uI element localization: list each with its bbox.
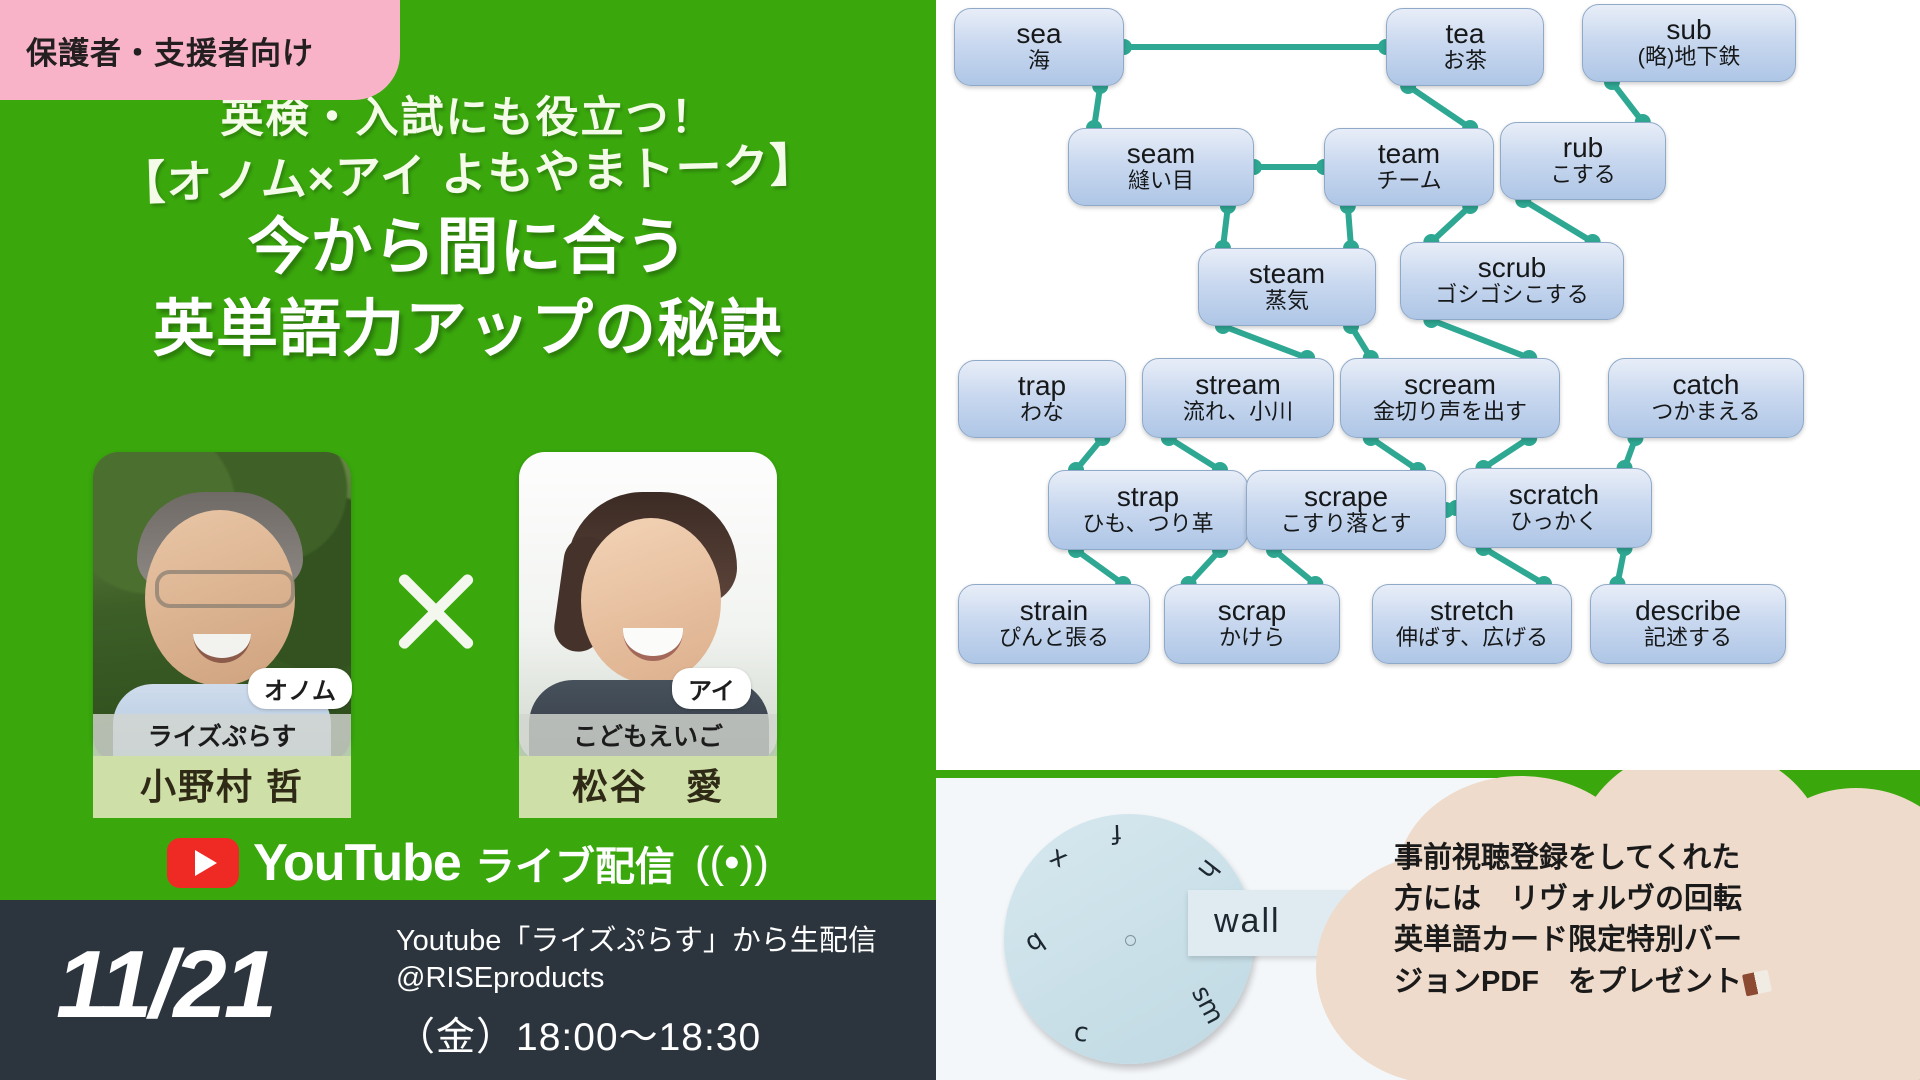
- word-node-japanese: つかまえる: [1651, 400, 1760, 425]
- word-node-japanese: ぴんと張る: [999, 626, 1109, 651]
- word-node-japanese: かけら: [1219, 626, 1285, 651]
- word-node-steam: steam蒸気: [1198, 248, 1376, 326]
- speaker-nameplate-onomu: ライズぷらす 小野村 哲: [93, 714, 351, 818]
- promo-line-4: ジョンPDF をプレゼント: [1394, 966, 1742, 998]
- speaker-name: 松谷 愛: [519, 756, 777, 818]
- headline-main-line1: 今から間に合う: [0, 210, 936, 286]
- word-node-scrape: scrapeこすり落とす: [1246, 470, 1446, 550]
- wheel-letter: sm: [1185, 981, 1230, 1029]
- word-node-japanese: 記述する: [1644, 626, 1732, 651]
- youtube-wordmark: YouTube: [253, 833, 461, 893]
- word-node-english: seam: [1127, 140, 1195, 169]
- word-node-english: sub: [1666, 16, 1711, 45]
- word-node-japanese: 海: [1028, 49, 1050, 74]
- word-node-english: describe: [1635, 597, 1741, 626]
- word-node-catch: catchつかまえる: [1608, 358, 1804, 438]
- word-node-japanese: 蒸気: [1265, 289, 1309, 314]
- word-node-english: strap: [1117, 483, 1179, 512]
- book-icon: [1742, 969, 1772, 996]
- event-date: 11/21: [56, 930, 274, 1040]
- word-map-canvas: sea海teaお茶sub(略)地下鉄seam縫い目teamチームrubこするst…: [936, 0, 1920, 770]
- word-map-panel: sea海teaお茶sub(略)地下鉄seam縫い目teamチームrubこするst…: [936, 0, 1920, 770]
- word-node-scrub: scrubゴシゴシこする: [1400, 242, 1624, 320]
- word-node-stream: stream流れ、小川: [1142, 358, 1334, 438]
- word-node-japanese: わな: [1020, 401, 1064, 426]
- event-details: Youtube「ライズぷらす」から生配信 @RISEproducts （金）18…: [396, 924, 877, 1062]
- word-strip-label: wall: [1214, 902, 1281, 941]
- word-node-english: scrub: [1478, 254, 1546, 283]
- word-node-english: scream: [1404, 371, 1496, 400]
- left-panel: 保護者・支援者向け 英検・入試にも役立つ！ 【オノム×アイ よもやまトーク】 今…: [0, 0, 936, 1080]
- wheel-letter: h: [1191, 853, 1225, 884]
- word-node-english: steam: [1249, 260, 1325, 289]
- word-node-japanese: こすり落とす: [1281, 512, 1412, 537]
- promo-line-1: 事前視聴登録をしてくれた: [1394, 838, 1894, 879]
- word-node-english: stretch: [1430, 597, 1514, 626]
- word-node-scrap: scrapかけら: [1164, 584, 1340, 664]
- wheel-center-dot: [1125, 935, 1136, 946]
- word-node-tea: teaお茶: [1386, 8, 1544, 86]
- word-node-japanese: ひも、つり革: [1082, 512, 1213, 537]
- word-node-japanese: 伸ばす、広げる: [1396, 626, 1548, 651]
- speakers-block: オノム アイ ライズぷらす 小野村 哲 こどもえいご 松谷 愛: [0, 452, 936, 812]
- promo-text: 事前視聴登録をしてくれた 方には リヴォルヴの回転 英単語カード限定特別バー ジ…: [1394, 838, 1894, 1003]
- word-node-japanese: お茶: [1443, 49, 1487, 74]
- poster-canvas: 保護者・支援者向け 英検・入試にも役立つ！ 【オノム×アイ よもやまトーク】 今…: [0, 0, 1920, 1080]
- word-node-sea: sea海: [954, 8, 1124, 86]
- event-handle: @RISEproducts: [396, 960, 877, 998]
- word-node-seam: seam縫い目: [1068, 128, 1254, 206]
- word-node-english: tea: [1446, 20, 1485, 49]
- word-node-sub: sub(略)地下鉄: [1582, 4, 1796, 82]
- speaker-org: ライズぷらす: [93, 714, 351, 756]
- word-node-english: stream: [1195, 371, 1281, 400]
- word-node-english: rub: [1563, 134, 1603, 163]
- speaker-org: こどもえいご: [519, 714, 777, 756]
- youtube-live-label: ライブ配信: [475, 834, 675, 892]
- word-node-rub: rubこする: [1500, 122, 1666, 200]
- promo-line-3: 英単語カード限定特別バー: [1394, 920, 1894, 961]
- event-channel: Youtube「ライズぷらす」から生配信: [396, 924, 877, 960]
- speaker-nickname-ai: アイ: [672, 668, 751, 709]
- word-node-team: teamチーム: [1324, 128, 1494, 206]
- word-node-japanese: チーム: [1376, 169, 1441, 194]
- word-node-describe: describe記述する: [1590, 584, 1786, 664]
- speaker-name: 小野村 哲: [93, 756, 351, 818]
- wheel-letter: c: [1072, 1017, 1090, 1049]
- cross-x-icon: [386, 560, 486, 660]
- word-node-english: sea: [1016, 20, 1061, 49]
- wheel-letter: q: [1019, 924, 1049, 958]
- word-node-english: strain: [1020, 597, 1088, 626]
- wheel-letter: f: [1111, 818, 1121, 848]
- word-node-scream: scream金切り声を出す: [1340, 358, 1560, 438]
- word-node-japanese: ゴシゴシこする: [1435, 283, 1589, 308]
- word-node-japanese: 縫い目: [1128, 169, 1194, 194]
- word-node-english: scrape: [1304, 483, 1388, 512]
- word-node-strain: strainぴんと張る: [958, 584, 1150, 664]
- word-node-english: trap: [1018, 372, 1066, 401]
- speaker-nameplate-ai: こどもえいご 松谷 愛: [519, 714, 777, 818]
- word-node-strap: strapひも、つり革: [1048, 470, 1248, 550]
- word-node-english: catch: [1673, 371, 1740, 400]
- audience-badge: 保護者・支援者向け: [0, 0, 400, 100]
- word-node-trap: trapわな: [958, 360, 1126, 438]
- youtube-live-banner: YouTube ライブ配信 ((•)): [0, 826, 936, 900]
- youtube-play-icon: [167, 838, 239, 888]
- word-node-english: scrap: [1218, 597, 1286, 626]
- word-node-japanese: 流れ、小川: [1183, 400, 1293, 425]
- word-node-stretch: stretch伸ばす、広げる: [1372, 584, 1572, 664]
- audience-badge-label: 保護者・支援者向け: [26, 28, 314, 73]
- broadcast-wave-icon: ((•)): [695, 841, 769, 885]
- promo-line-4-wrap: ジョンPDF をプレゼント: [1394, 962, 1894, 1003]
- word-node-japanese: こする: [1550, 163, 1616, 188]
- headline-sub2: 【オノム×アイ よもやまトーク】: [0, 133, 936, 217]
- word-node-scratch: scratchひっかく: [1456, 468, 1652, 548]
- word-node-japanese: (略)地下鉄: [1638, 45, 1741, 70]
- word-node-english: scratch: [1509, 481, 1599, 510]
- wheel-letter: x: [1044, 842, 1072, 876]
- event-time: （金）18:00〜18:30: [396, 1006, 877, 1062]
- headline-main-line2: 英単語力アップの秘訣: [0, 292, 936, 368]
- speaker-nickname-onomu: オノム: [248, 668, 352, 709]
- footer-bar: 11/21 Youtube「ライズぷらす」から生配信 @RISEproducts…: [0, 900, 936, 1080]
- promo-panel: f h sm c q x wall 事前視聴登録をしてくれた 方には リヴォルヴ…: [936, 770, 1920, 1080]
- headline-block: 英検・入試にも役立つ！ 【オノム×アイ よもやまトーク】 今から間に合う 英単語…: [0, 92, 936, 367]
- promo-line-2: 方には リヴォルヴの回転: [1394, 879, 1894, 920]
- promo-cloud-callout: 事前視聴登録をしてくれた 方には リヴォルヴの回転 英単語カード限定特別バー ジ…: [1276, 770, 1920, 1080]
- word-node-japanese: 金切り声を出す: [1373, 400, 1527, 425]
- word-node-japanese: ひっかく: [1510, 510, 1598, 535]
- glasses-icon: [155, 570, 295, 608]
- word-node-english: team: [1378, 140, 1440, 169]
